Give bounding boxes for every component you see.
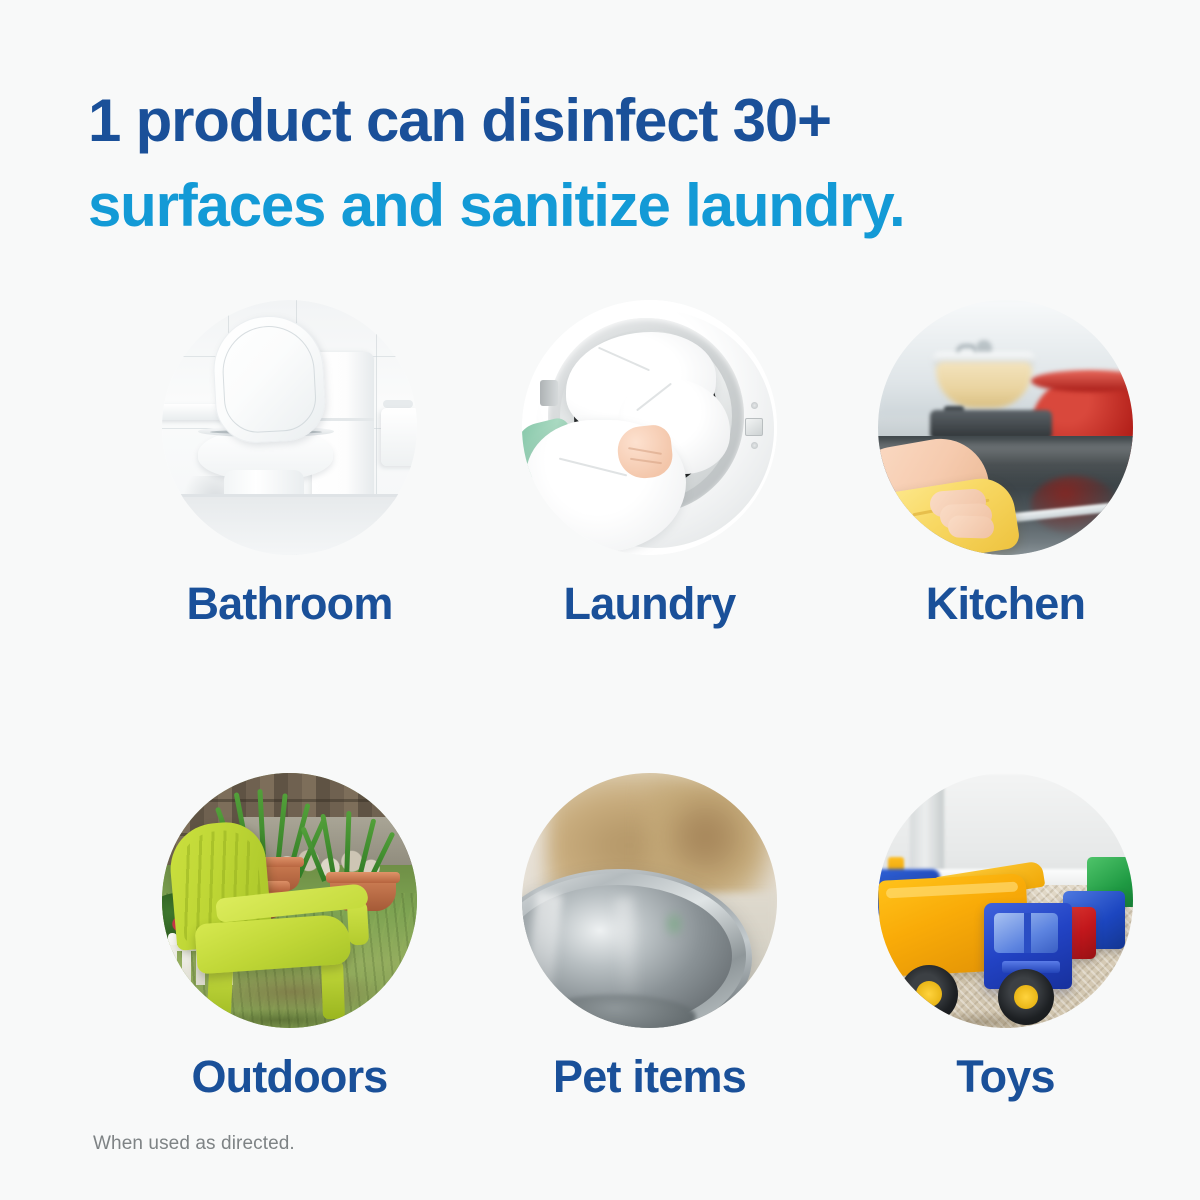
bathroom-floor: [162, 497, 417, 555]
terracotta-pot-rim: [326, 872, 400, 883]
toilet-paper-roll: [381, 408, 417, 466]
wheel-hubcap: [916, 981, 942, 1007]
yellow-blue-toy-dump-truck-and-blocks-on-carpet-image: [878, 773, 1133, 1028]
washer-door-hinge: [540, 380, 558, 406]
category-label-bathroom: Bathroom: [186, 581, 392, 626]
green-reflection-spot: [662, 909, 686, 939]
pet-items-image-circle: [522, 773, 777, 1028]
hand-loading-white-laundry-into-washer-drum-image: [522, 300, 777, 555]
headline-line-2: surfaces and sanitize laundry.: [88, 163, 1128, 248]
door-frame: [910, 773, 944, 883]
category-label-laundry: Laundry: [564, 581, 736, 626]
chair-seat: [194, 914, 351, 975]
toys-image-circle: [878, 773, 1133, 1028]
category-row-2: Outdoors Pet items: [0, 773, 1200, 1099]
surface-category-grid: Bathroom: [0, 300, 1200, 1099]
category-cell-pet-items[interactable]: Pet items: [472, 773, 827, 1099]
laundry-image-circle: [522, 300, 777, 555]
category-cell-toys[interactable]: Toys: [828, 773, 1183, 1099]
category-cell-outdoors[interactable]: Outdoors: [112, 773, 467, 1099]
toilet-in-white-tiled-bathroom-image: [162, 300, 417, 555]
category-label-outdoors: Outdoors: [191, 1054, 387, 1099]
lime-green-plastic-patio-chair-in-garden-image: [162, 773, 417, 1028]
washer-screw: [751, 402, 758, 409]
washer-door-latch: [745, 418, 763, 436]
cab-window-post: [1024, 913, 1031, 953]
finger: [948, 515, 995, 539]
stainless-steel-pet-bowl-with-dog-behind-image: [522, 773, 777, 1028]
toilet-paper-rod: [383, 400, 413, 408]
washer-screw: [751, 442, 758, 449]
category-label-kitchen: Kitchen: [926, 581, 1085, 626]
category-label-pet-items: Pet items: [553, 1054, 746, 1099]
page-headline: 1 product can disinfect 30+ surfaces and…: [88, 78, 1128, 248]
headline-line-1: 1 product can disinfect 30+: [88, 78, 1128, 163]
category-cell-laundry[interactable]: Laundry: [472, 300, 827, 626]
footnote-disclaimer: When used as directed.: [93, 1133, 295, 1155]
chair-leg: [321, 961, 345, 1020]
category-cell-kitchen[interactable]: Kitchen: [828, 300, 1183, 626]
potted-grass-plant: [320, 811, 380, 881]
outdoors-image-circle: [162, 773, 417, 1028]
category-row-1: Bathroom: [0, 300, 1200, 626]
category-label-toys: Toys: [956, 1054, 1055, 1099]
wheel-hubcap: [1014, 985, 1038, 1009]
category-cell-bathroom[interactable]: Bathroom: [112, 300, 467, 626]
hand-wiping-stovetop-with-yellow-cloth-image: [878, 300, 1133, 555]
kitchen-image-circle: [878, 300, 1133, 555]
bathroom-image-circle: [162, 300, 417, 555]
